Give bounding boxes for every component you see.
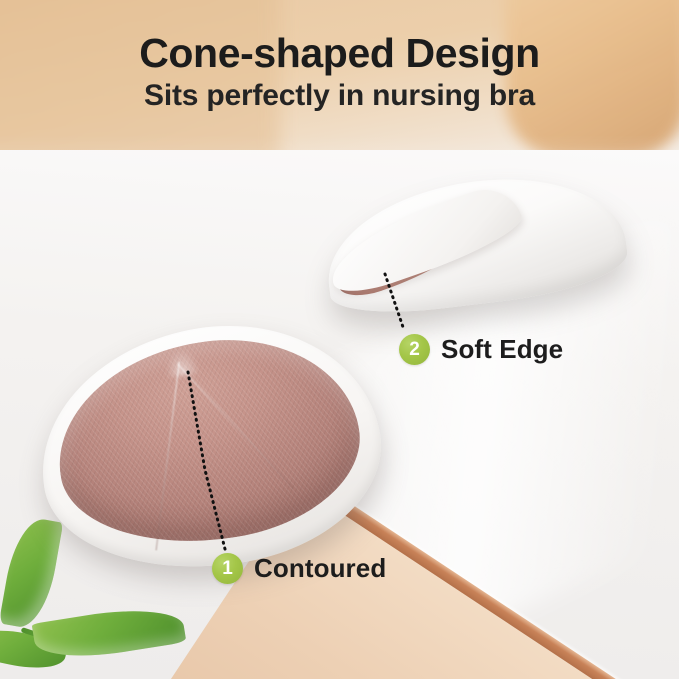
page-subtitle: Sits perfectly in nursing bra — [0, 79, 679, 113]
callout-1-number: 1 — [212, 553, 243, 584]
callout-1-label: Contoured — [254, 553, 386, 584]
product-feature-image: 1 Contoured 2 Soft Edge Cone-shaped Desi… — [0, 0, 679, 679]
callout-2-number: 2 — [399, 334, 430, 365]
pad-cone-apex-highlight — [163, 347, 201, 378]
callout-2-label: Soft Edge — [441, 334, 563, 365]
callout-2: 2 Soft Edge — [399, 334, 563, 365]
callout-1: 1 Contoured — [212, 553, 386, 584]
page-title: Cone-shaped Design — [0, 30, 679, 77]
